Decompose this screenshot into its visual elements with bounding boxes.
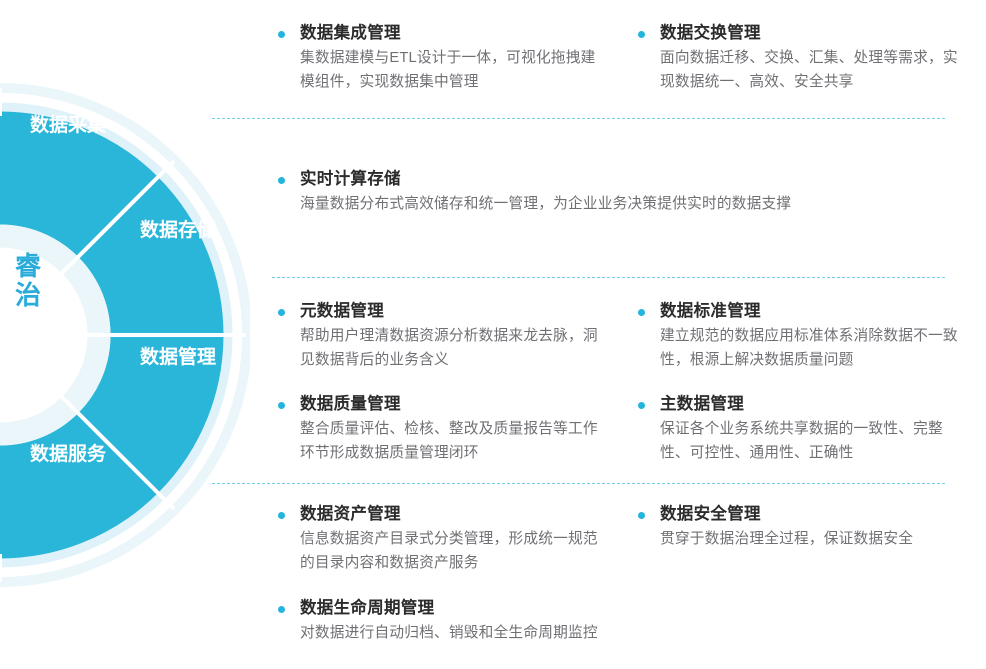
capability-item[interactable]: 数据生命周期管理 对数据进行自动归档、销毁和全生命周期监控 — [278, 597, 698, 646]
capability-item[interactable]: 数据安全管理 贯穿于数据治理全过程，保证数据安全 — [638, 503, 978, 552]
capability-item[interactable]: 数据交换管理 面向数据迁移、交换、汇集、处理等需求，实现数据统一、高效、安全共享 — [638, 22, 968, 95]
capability-title: 数据质量管理 — [300, 393, 608, 415]
capability-desc: 建立规范的数据应用标准体系消除数据不一致性，根源上解决数据质量问题 — [660, 325, 968, 373]
capability-title: 元数据管理 — [300, 300, 608, 322]
bullet-icon — [278, 177, 285, 184]
capability-title: 数据集成管理 — [300, 22, 608, 44]
capability-title: 主数据管理 — [660, 393, 968, 415]
capability-title: 数据资产管理 — [300, 503, 608, 525]
section-divider — [272, 277, 945, 278]
capability-desc: 贯穿于数据治理全过程，保证数据安全 — [660, 528, 978, 552]
capability-desc: 信息数据资产目录式分类管理，形成统一规范的目录内容和数据资产服务 — [300, 528, 608, 576]
section-divider — [212, 118, 945, 119]
capability-item[interactable]: 数据标准管理 建立规范的数据应用标准体系消除数据不一致性，根源上解决数据质量问题 — [638, 300, 968, 373]
capability-desc: 帮助用户理清数据资源分析数据来龙去脉，洞见数据背后的业务含义 — [300, 325, 608, 373]
capability-content: 数据集成管理 集数据建模与ETL设计于一体，可视化拖拽建模组件，实现数据集中管理… — [0, 0, 986, 669]
capability-item[interactable]: 实时计算存储 海量数据分布式高效储存和统一管理，为企业业务决策提供实时的数据支撑 — [278, 168, 978, 217]
capability-desc: 集数据建模与ETL设计于一体，可视化拖拽建模组件，实现数据集中管理 — [300, 47, 608, 95]
bullet-icon — [638, 31, 645, 38]
capability-title: 实时计算存储 — [300, 168, 978, 190]
capability-desc: 海量数据分布式高效储存和统一管理，为企业业务决策提供实时的数据支撑 — [300, 193, 978, 217]
bullet-icon — [278, 31, 285, 38]
capability-item[interactable]: 数据集成管理 集数据建模与ETL设计于一体，可视化拖拽建模组件，实现数据集中管理 — [278, 22, 608, 95]
capability-desc: 面向数据迁移、交换、汇集、处理等需求，实现数据统一、高效、安全共享 — [660, 47, 968, 95]
capability-title: 数据安全管理 — [660, 503, 978, 525]
capability-item[interactable]: 数据质量管理 整合质量评估、检核、整改及质量报告等工作环节形成数据质量管理闭环 — [278, 393, 608, 466]
capability-title: 数据交换管理 — [660, 22, 968, 44]
section-divider — [212, 483, 945, 484]
bullet-icon — [278, 512, 285, 519]
bullet-icon — [278, 402, 285, 409]
capability-title: 数据生命周期管理 — [300, 597, 698, 619]
capability-desc: 对数据进行自动归档、销毁和全生命周期监控 — [300, 622, 698, 646]
bullet-icon — [278, 309, 285, 316]
bullet-icon — [638, 402, 645, 409]
capability-item[interactable]: 元数据管理 帮助用户理清数据资源分析数据来龙去脉，洞见数据背后的业务含义 — [278, 300, 608, 373]
bullet-icon — [278, 606, 285, 613]
bullet-icon — [638, 512, 645, 519]
capability-item[interactable]: 主数据管理 保证各个业务系统共享数据的一致性、完整性、可控性、通用性、正确性 — [638, 393, 968, 466]
capability-desc: 整合质量评估、检核、整改及质量报告等工作环节形成数据质量管理闭环 — [300, 418, 608, 466]
bullet-icon — [638, 309, 645, 316]
capability-desc: 保证各个业务系统共享数据的一致性、完整性、可控性、通用性、正确性 — [660, 418, 968, 466]
capability-title: 数据标准管理 — [660, 300, 968, 322]
capability-item[interactable]: 数据资产管理 信息数据资产目录式分类管理，形成统一规范的目录内容和数据资产服务 — [278, 503, 608, 576]
